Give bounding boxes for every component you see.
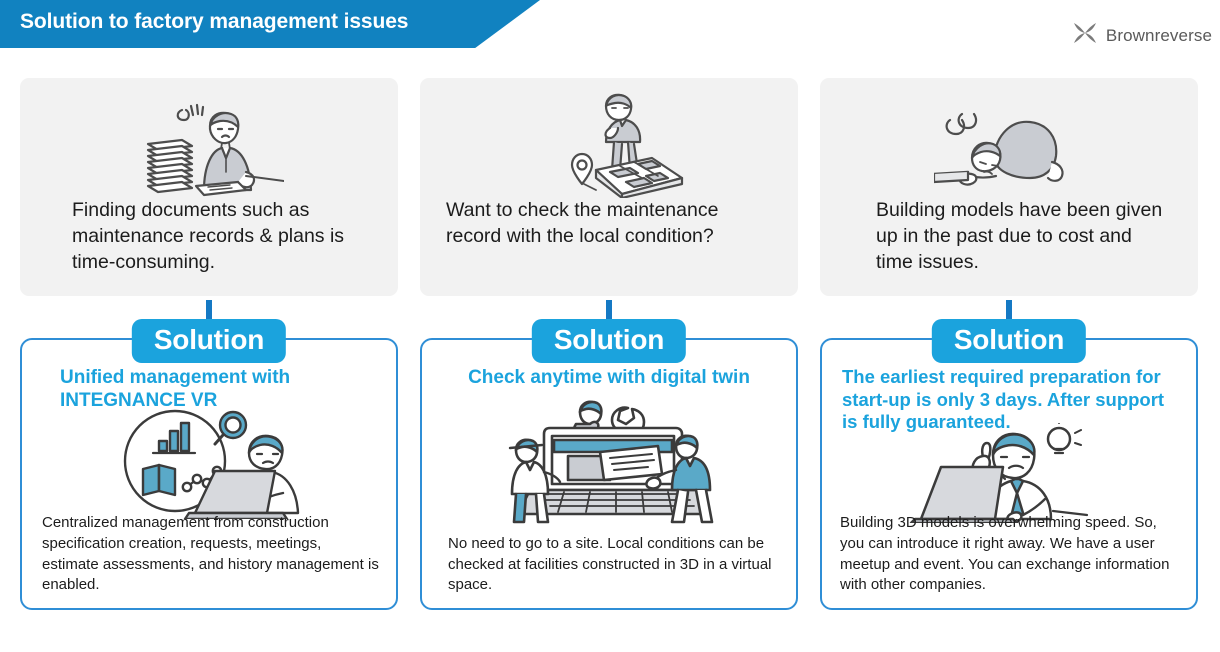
laptop-maintenance-workers-wrench-icon (434, 389, 784, 534)
solution-badge-2: Solution (532, 319, 686, 363)
problem-card-2: Want to check the maintenance record wit… (420, 78, 798, 296)
solution-card-1: Solution Unified management with INTEGNA… (20, 338, 398, 610)
solution-card-3: Solution The earliest required preparati… (820, 338, 1198, 610)
analytics-dashboard-person-laptop-icon (34, 412, 384, 513)
column-1: Finding documents such as maintenance re… (20, 78, 398, 610)
column-2: Want to check the maintenance record wit… (420, 78, 798, 610)
problem-text-2: Want to check the maintenance record wit… (446, 198, 772, 250)
solution-heading-1: Unified management with INTEGNANCE VR (34, 366, 384, 412)
solution-card-2: Solution Check anytime with digital twin (420, 338, 798, 610)
column-3: Building models have been given up in th… (820, 78, 1198, 610)
bowtie-x-logo-icon (1072, 22, 1098, 49)
solution-body-1: Centralized management from construction… (34, 513, 384, 598)
person-laptop-idea-lightbulb-icon (834, 434, 1184, 514)
person-collapsed-on-desk-icon (846, 86, 1172, 198)
solution-badge-1: Solution (132, 319, 286, 363)
brand-name-label: Brownreverse (1106, 26, 1212, 46)
problem-text-1: Finding documents such as maintenance re… (46, 198, 372, 276)
solution-heading-2: Check anytime with digital twin (434, 366, 784, 389)
solution-body-2: No need to go to a site. Local condition… (434, 534, 784, 598)
brand-logo: Brownreverse (1072, 22, 1212, 49)
page-title: Solution to factory management issues (20, 10, 408, 34)
person-with-document-stack-icon (46, 86, 372, 198)
problem-card-3: Building models have been given up in th… (820, 78, 1198, 296)
solution-body-3: Building 3D models is overwhelming speed… (834, 513, 1184, 598)
solution-badge-3: Solution (932, 319, 1086, 363)
problem-card-1: Finding documents such as maintenance re… (20, 78, 398, 296)
problem-text-3: Building models have been given up in th… (846, 198, 1172, 276)
columns-container: Finding documents such as maintenance re… (0, 78, 1220, 610)
person-on-site-map-pin-icon (446, 86, 772, 198)
